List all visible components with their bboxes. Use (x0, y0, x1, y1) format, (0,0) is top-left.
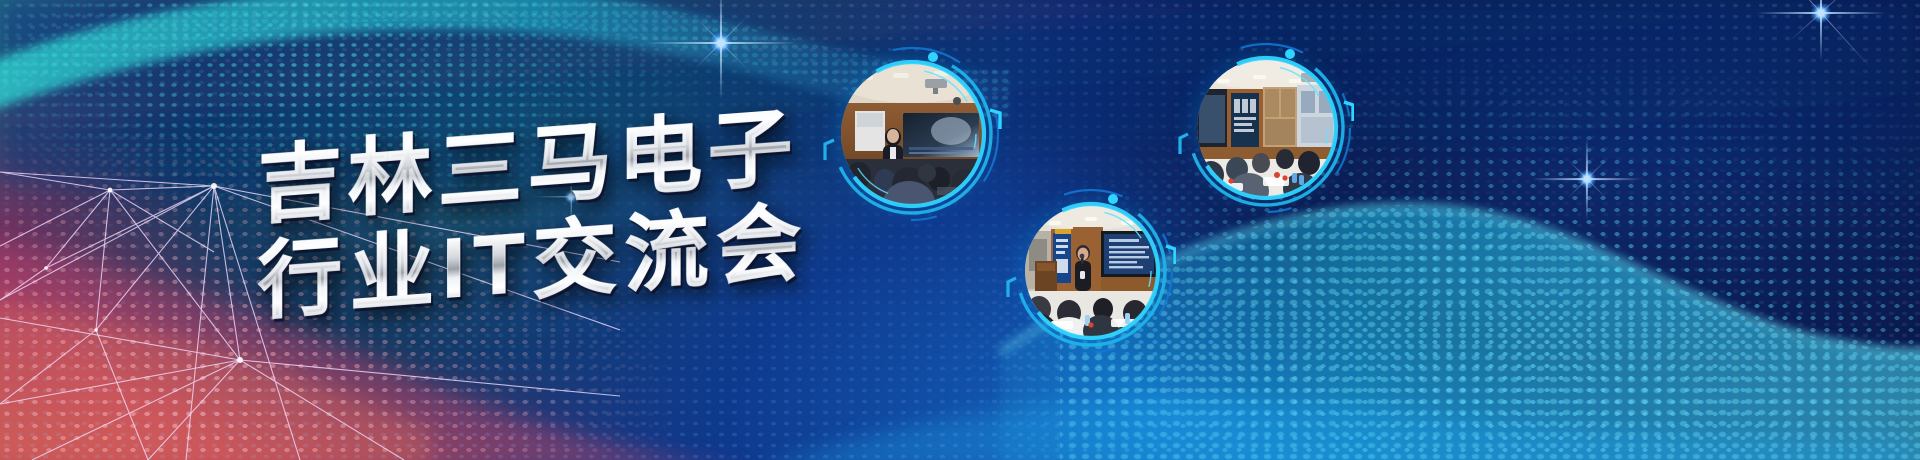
star-flare-2 (1586, 178, 1588, 180)
flare-core-icon (1578, 170, 1596, 188)
flare-ray-h (646, 42, 796, 44)
flare-ray-h (1756, 12, 1886, 14)
tech-ring-frame-3 (1006, 186, 1176, 356)
tech-ring-frame-1 (822, 44, 1002, 224)
photo-medallion-seminar-speaker[interactable] (1006, 186, 1176, 356)
flare-ray-d2 (1787, 0, 1855, 44)
headline-block: 吉林三马电子 行业IT交流会 (258, 102, 809, 328)
flare-ray-v (720, 0, 722, 99)
flare-core-icon (710, 32, 732, 54)
photo-medallion-training-hall[interactable] (822, 44, 1002, 224)
star-flare-1 (720, 42, 722, 44)
tech-ring-frame-2 (1178, 40, 1354, 216)
flare-core-icon (1811, 3, 1831, 23)
event-banner: 吉林三马电子 行业IT交流会 (0, 0, 1920, 460)
flare-ray-d1 (1770, 0, 1871, 69)
flare-ray-d2 (1567, 159, 1607, 199)
flare-ray-d1 (1567, 159, 1607, 199)
flare-ray-h (1532, 178, 1642, 180)
flare-ray-v (1820, 0, 1822, 61)
flare-ray-v (1586, 138, 1588, 220)
flare-ray-d2 (694, 16, 747, 69)
star-flare-3 (1820, 12, 1822, 14)
flare-ray-d1 (694, 16, 747, 69)
photo-medallion-meeting-room[interactable] (1178, 40, 1354, 216)
